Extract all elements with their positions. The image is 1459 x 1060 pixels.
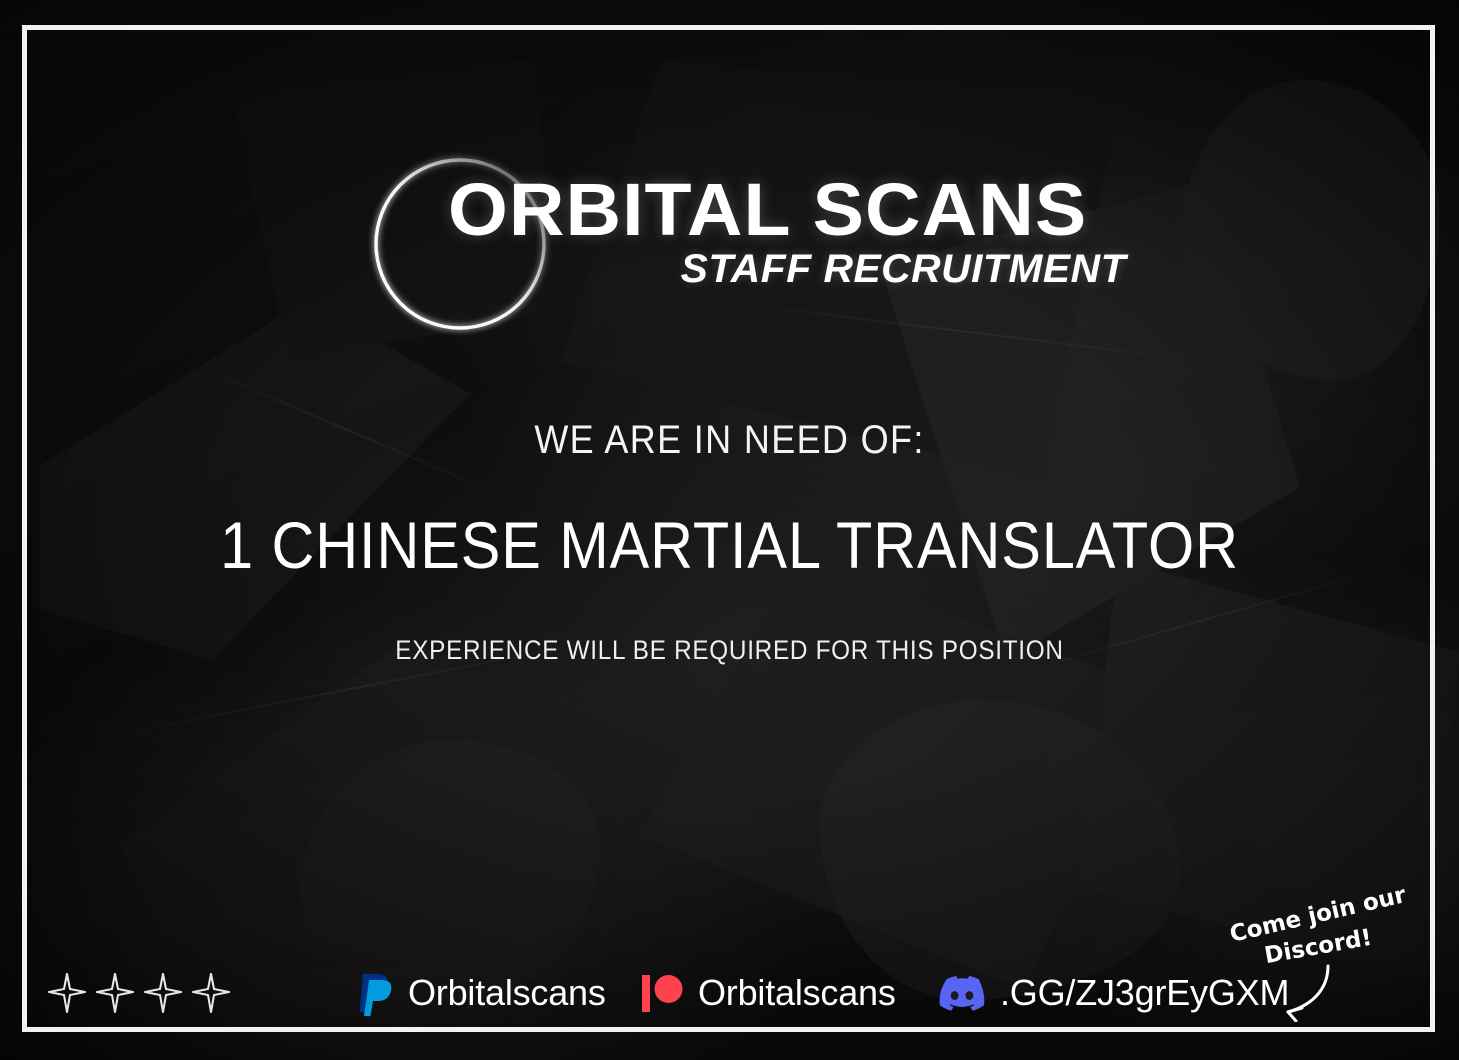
brand-name: ORBITAL SCANS — [448, 174, 1176, 245]
recruitment-poster: ORBITAL SCANS STAFF RECRUITMENT WE ARE I… — [0, 0, 1459, 1060]
logo-text: ORBITAL SCANS STAFF RECRUITMENT — [448, 174, 1148, 292]
social-link-paypal[interactable]: Orbitalscans — [358, 970, 606, 1016]
paypal-icon — [358, 970, 394, 1016]
sparkle-icon — [94, 971, 136, 1015]
experience-line: EXPERIENCE WILL BE REQUIRED FOR THIS POS… — [73, 635, 1386, 666]
curved-arrow-icon — [1254, 964, 1344, 1022]
social-link-patreon[interactable]: Orbitalscans — [640, 971, 896, 1015]
need-line: WE ARE IN NEED OF: — [73, 418, 1386, 463]
sparkle-icon — [46, 971, 88, 1015]
brand-subtitle: STAFF RECRUITMENT — [434, 247, 1126, 292]
sparkle-icon — [142, 971, 184, 1015]
logo-block: ORBITAL SCANS STAFF RECRUITMENT — [0, 72, 1459, 252]
sparkle-group — [46, 971, 232, 1015]
sparkle-icon — [190, 971, 232, 1015]
discord-icon — [938, 974, 986, 1012]
patreon-icon — [640, 971, 684, 1015]
social-label-paypal: Orbitalscans — [408, 972, 606, 1014]
discord-callout: Come join our Discord! — [1222, 888, 1422, 1020]
main-message: WE ARE IN NEED OF: 1 CHINESE MARTIAL TRA… — [0, 418, 1459, 666]
footer-bar: Orbitalscans Orbitalscans .GG/ZJ3grEy — [40, 960, 1419, 1026]
social-label-patreon: Orbitalscans — [698, 972, 896, 1014]
role-line: 1 CHINESE MARTIAL TRANSLATOR — [73, 507, 1386, 583]
